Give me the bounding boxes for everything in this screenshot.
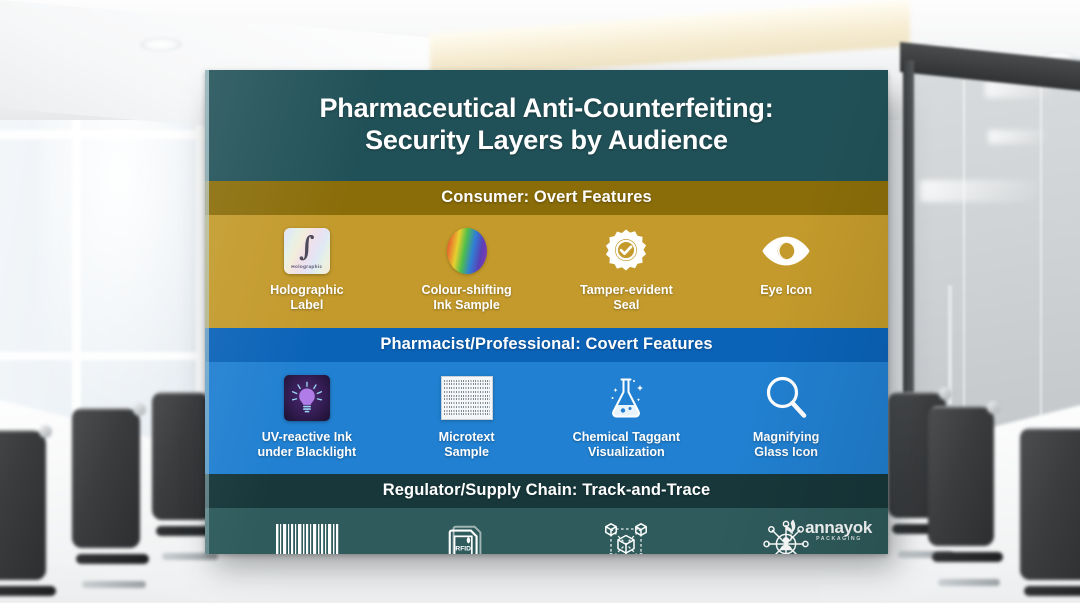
- section-pharmacist: Pharmacist/Professional: Covert Features: [205, 328, 888, 475]
- office-chair: [152, 392, 212, 520]
- section-heading-regulator: Regulator/Supply Chain: Track-and-Trace: [205, 474, 888, 508]
- feature-colour-shifting-ink: Colour-shifting Ink Sample: [387, 227, 547, 314]
- feature-rfid-chip: RFID RFID Chip Illustration: [387, 520, 547, 554]
- feature-uv-reactive-ink: UV-reactive Ink under Blacklight: [227, 374, 387, 461]
- glass-reflection: [920, 180, 1040, 202]
- ceiling-downlight: [140, 38, 182, 51]
- feature-caption: Magnifying Glass Icon: [753, 430, 819, 461]
- screenshot-scene: Pharmaceutical Anti-Counterfeiting: Secu…: [0, 0, 1080, 603]
- holographic-label-icon: ∫ Holographic: [284, 227, 330, 275]
- feature-caption: Holographic Label: [270, 283, 343, 314]
- page-title-line-2: Security Layers by Audience: [235, 124, 858, 156]
- feature-caption: UV-reactive Ink under Blacklight: [258, 430, 357, 461]
- microtext-sample-icon: [441, 374, 493, 422]
- page-title-line-1: Pharmaceutical Anti-Counterfeiting:: [235, 92, 858, 124]
- office-chair: [928, 406, 994, 546]
- eye-icon: [761, 227, 811, 275]
- holo-word: Holographic: [284, 264, 330, 269]
- colour-shifting-ink-icon: [447, 227, 487, 275]
- blockchain-network-icon: [600, 520, 652, 554]
- feature-tamper-evident-seal: Tamper-evident Seal: [547, 227, 707, 314]
- logo-wordmark: annayok PACKAGING: [805, 519, 872, 542]
- feature-serialisation-barcode: Serialisation Barcode Graphic: [227, 520, 387, 554]
- section-heading-pharmacist: Pharmacist/Professional: Covert Features: [205, 328, 888, 362]
- feature-caption: Microtext Sample: [439, 430, 495, 461]
- infographic-poster: Pharmaceutical Anti-Counterfeiting: Secu…: [205, 70, 888, 554]
- office-chair: [0, 430, 46, 580]
- logo-sub-text: PACKAGING: [816, 537, 872, 542]
- barcode-icon: [275, 520, 339, 554]
- section-consumer: Consumer: Overt Features ∫ Holographic H…: [205, 181, 888, 328]
- rfid-chip-icon: RFID: [444, 520, 490, 554]
- uv-lightbulb-icon: [284, 374, 330, 422]
- company-logo: annayok PACKAGING: [784, 518, 872, 544]
- feature-caption: Eye Icon: [760, 283, 812, 298]
- feature-chemical-taggant: Chemical Taggant Visualization: [547, 374, 707, 461]
- feature-microtext-sample: Microtext Sample: [387, 374, 547, 461]
- glass-reflection: [988, 130, 1048, 144]
- feature-magnifying-glass: Magnifying Glass Icon: [706, 374, 866, 461]
- logo-brand-text: annayok: [805, 519, 872, 536]
- section-heading-consumer: Consumer: Overt Features: [205, 181, 888, 215]
- section-body-pharmacist: UV-reactive Ink under Blacklight Microte…: [205, 362, 888, 475]
- poster-title-band: Pharmaceutical Anti-Counterfeiting: Secu…: [205, 70, 888, 181]
- rfid-chip-label: RFID: [455, 546, 471, 553]
- poster-left-edge: [205, 70, 209, 554]
- office-chair: [1020, 428, 1080, 580]
- magnifying-glass-icon: [763, 374, 809, 422]
- feature-blockchain-network: Blockchain Network Diagram: [547, 520, 707, 554]
- feature-caption: Tamper-evident Seal: [580, 283, 673, 314]
- feature-eye-icon: Eye Icon: [706, 227, 866, 298]
- page-title: Pharmaceutical Anti-Counterfeiting: Secu…: [235, 92, 858, 157]
- feature-caption: Chemical Taggant Visualization: [573, 430, 681, 461]
- holo-swirl-mark: ∫: [299, 234, 315, 261]
- office-chair: [72, 408, 140, 548]
- flask-icon: [604, 374, 648, 422]
- leaf-swirl-logo-icon: [784, 518, 802, 544]
- feature-caption: Colour-shifting Ink Sample: [422, 283, 512, 314]
- feature-holographic-label: ∫ Holographic Holographic Label: [227, 227, 387, 314]
- tamper-evident-seal-icon: [603, 227, 649, 275]
- section-body-consumer: ∫ Holographic Holographic Label Colour-s…: [205, 215, 888, 328]
